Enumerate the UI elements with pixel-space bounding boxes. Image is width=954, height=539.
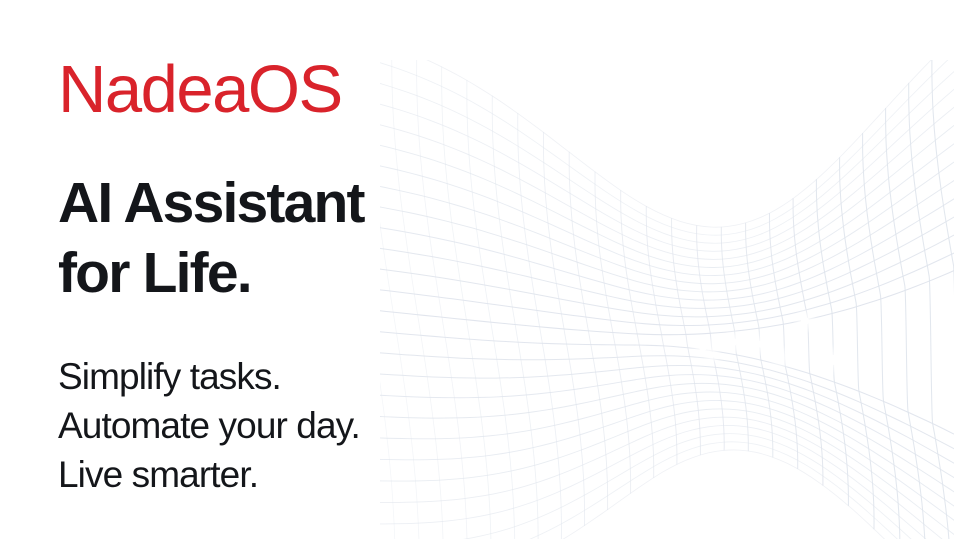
headline-line-1: AI Assistant — [58, 168, 364, 238]
brand-wordmark: NadeaOS — [58, 56, 342, 123]
hero-banner: NadeaOS AI Assistant for Life. Simplify … — [0, 0, 954, 539]
headline-line-2: for Life. — [58, 238, 364, 308]
page-title: AI Assistant for Life. — [58, 168, 364, 308]
page-subtitle: Simplify tasks. Automate your day. Live … — [58, 352, 360, 499]
subheadline-line-2: Automate your day. — [58, 401, 360, 450]
hero-text-column: NadeaOS AI Assistant for Life. Simplify … — [58, 0, 488, 539]
subheadline-line-1: Simplify tasks. — [58, 352, 360, 401]
subheadline-line-3: Live smarter. — [58, 450, 360, 499]
